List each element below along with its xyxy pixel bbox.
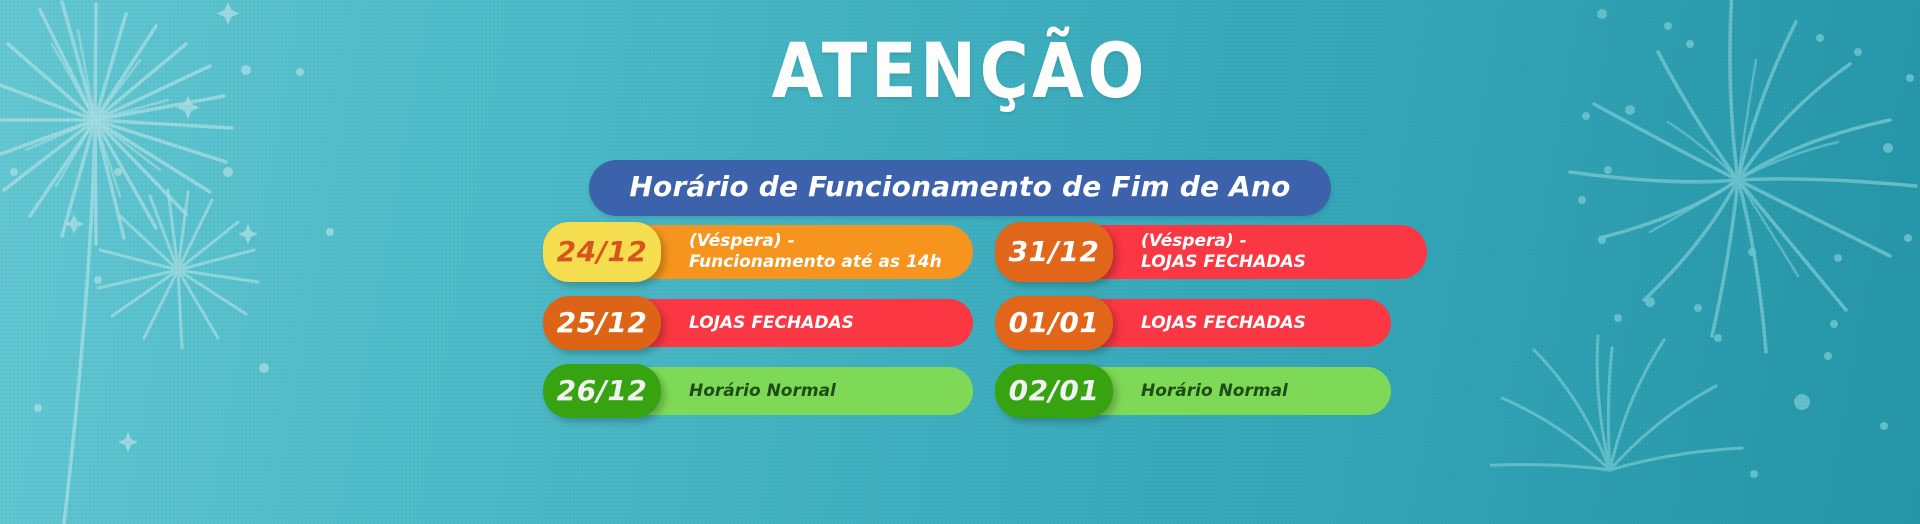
schedule-date-chip: 24/12: [543, 222, 661, 282]
subtitle-pill: Horário de Funcionamento de Fim de Ano: [589, 160, 1330, 216]
subtitle-container: Horário de Funcionamento de Fim de Ano: [0, 160, 1920, 216]
schedule-row: LOJAS FECHADAS 01/01: [995, 296, 1427, 350]
schedule-date-text: 26/12: [557, 375, 648, 407]
schedule-date-chip: 25/12: [543, 296, 661, 350]
schedule-date-text: 25/12: [557, 307, 648, 339]
holiday-hours-banner: ATENÇÃO Horário de Funcionamento de Fim …: [0, 0, 1920, 524]
schedule-row: (Véspera) - Funcionamento até as 14h 24/…: [543, 222, 973, 282]
schedule-row: (Véspera) - LOJAS FECHADAS 31/12: [995, 222, 1427, 282]
schedule-row: Horário Normal 26/12: [543, 364, 973, 418]
schedule-row-label: Horário Normal: [689, 381, 836, 402]
schedule-row: LOJAS FECHADAS 25/12: [543, 296, 973, 350]
subtitle-text: Horário de Funcionamento de Fim de Ano: [629, 171, 1290, 203]
page-title: ATENÇÃO: [772, 28, 1148, 114]
schedule-row: Horário Normal 02/01: [995, 364, 1427, 418]
schedule-row-label: (Véspera) - Funcionamento até as 14h: [689, 231, 942, 273]
schedule-date-text: 31/12: [1009, 236, 1100, 268]
schedule-row-label: Horário Normal: [1141, 381, 1288, 402]
schedule-date-text: 01/01: [1009, 307, 1100, 339]
schedule-date-chip: 26/12: [543, 364, 661, 418]
schedule-row-label: LOJAS FECHADAS: [689, 313, 854, 334]
schedule-date-text: 24/12: [557, 236, 648, 268]
schedule-date-chip: 31/12: [995, 222, 1113, 282]
schedule-date-chip: 02/01: [995, 364, 1113, 418]
schedule-row-label: LOJAS FECHADAS: [1141, 313, 1306, 334]
schedule-columns: (Véspera) - Funcionamento até as 14h 24/…: [543, 222, 1563, 418]
schedule-date-chip: 01/01: [995, 296, 1113, 350]
schedule-column-right: (Véspera) - LOJAS FECHADAS 31/12 LOJAS F…: [995, 222, 1427, 418]
schedule-date-text: 02/01: [1009, 375, 1100, 407]
schedule-column-left: (Véspera) - Funcionamento até as 14h 24/…: [543, 222, 973, 418]
schedule-row-label: (Véspera) - LOJAS FECHADAS: [1141, 231, 1306, 273]
title-container: ATENÇÃO: [0, 28, 1920, 114]
